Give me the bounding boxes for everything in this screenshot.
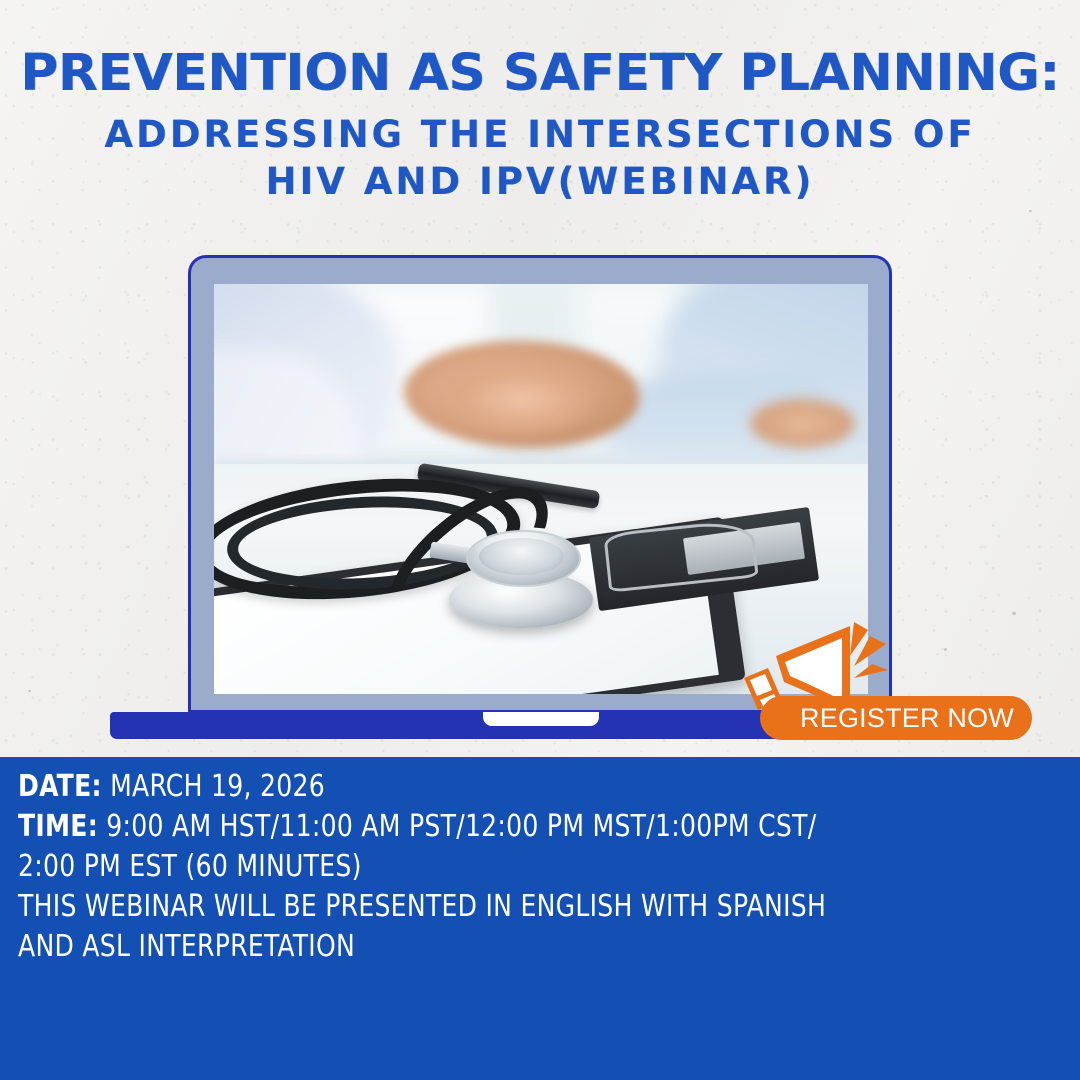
event-details-text: DATE: MARCH 19, 2026 TIME: 9:00 AM HST/1… — [18, 767, 1060, 967]
time-line: TIME: 9:00 AM HST/11:00 AM PST/12:00 PM … — [18, 807, 987, 847]
laptop-trackpad-notch — [483, 712, 599, 726]
poster-title-block: PREVENTION AS SAFETY PLANNING: ADDRESSIN… — [0, 48, 1080, 206]
time-label: TIME: — [18, 809, 98, 844]
date-value: MARCH 19, 2026 — [102, 769, 325, 804]
title-subtitle-line1: ADDRESSING THE INTERSECTIONS OF — [0, 111, 1080, 158]
paper-speck — [1012, 612, 1016, 615]
title-subtitle: ADDRESSING THE INTERSECTIONS OF HIV AND … — [0, 111, 1080, 206]
event-details-band: DATE: MARCH 19, 2026 TIME: 9:00 AM HST/1… — [0, 757, 1080, 1080]
webinar-poster: PREVENTION AS SAFETY PLANNING: ADDRESSIN… — [0, 0, 1080, 1080]
date-label: DATE: — [18, 769, 102, 804]
interpretation-note-line2: AND ASL INTERPRETATION — [18, 927, 987, 967]
interpretation-note-line1: THIS WEBINAR WILL BE PRESENTED IN ENGLIS… — [18, 887, 987, 927]
title-main: PREVENTION AS SAFETY PLANNING: — [0, 48, 1080, 99]
paper-speck — [1029, 210, 1032, 212]
register-now-badge[interactable]: REGISTER NOW — [738, 620, 1028, 745]
title-subtitle-line2: HIV AND IPV(WEBINAR) — [0, 158, 1080, 205]
date-line: DATE: MARCH 19, 2026 — [18, 767, 987, 807]
register-now-label[interactable]: REGISTER NOW — [760, 696, 1032, 740]
paper-speck — [28, 690, 31, 692]
time-value: 9:00 AM HST/11:00 AM PST/12:00 PM MST/1:… — [98, 809, 816, 844]
time-line-2: 2:00 PM EST (60 MINUTES) — [18, 847, 987, 887]
